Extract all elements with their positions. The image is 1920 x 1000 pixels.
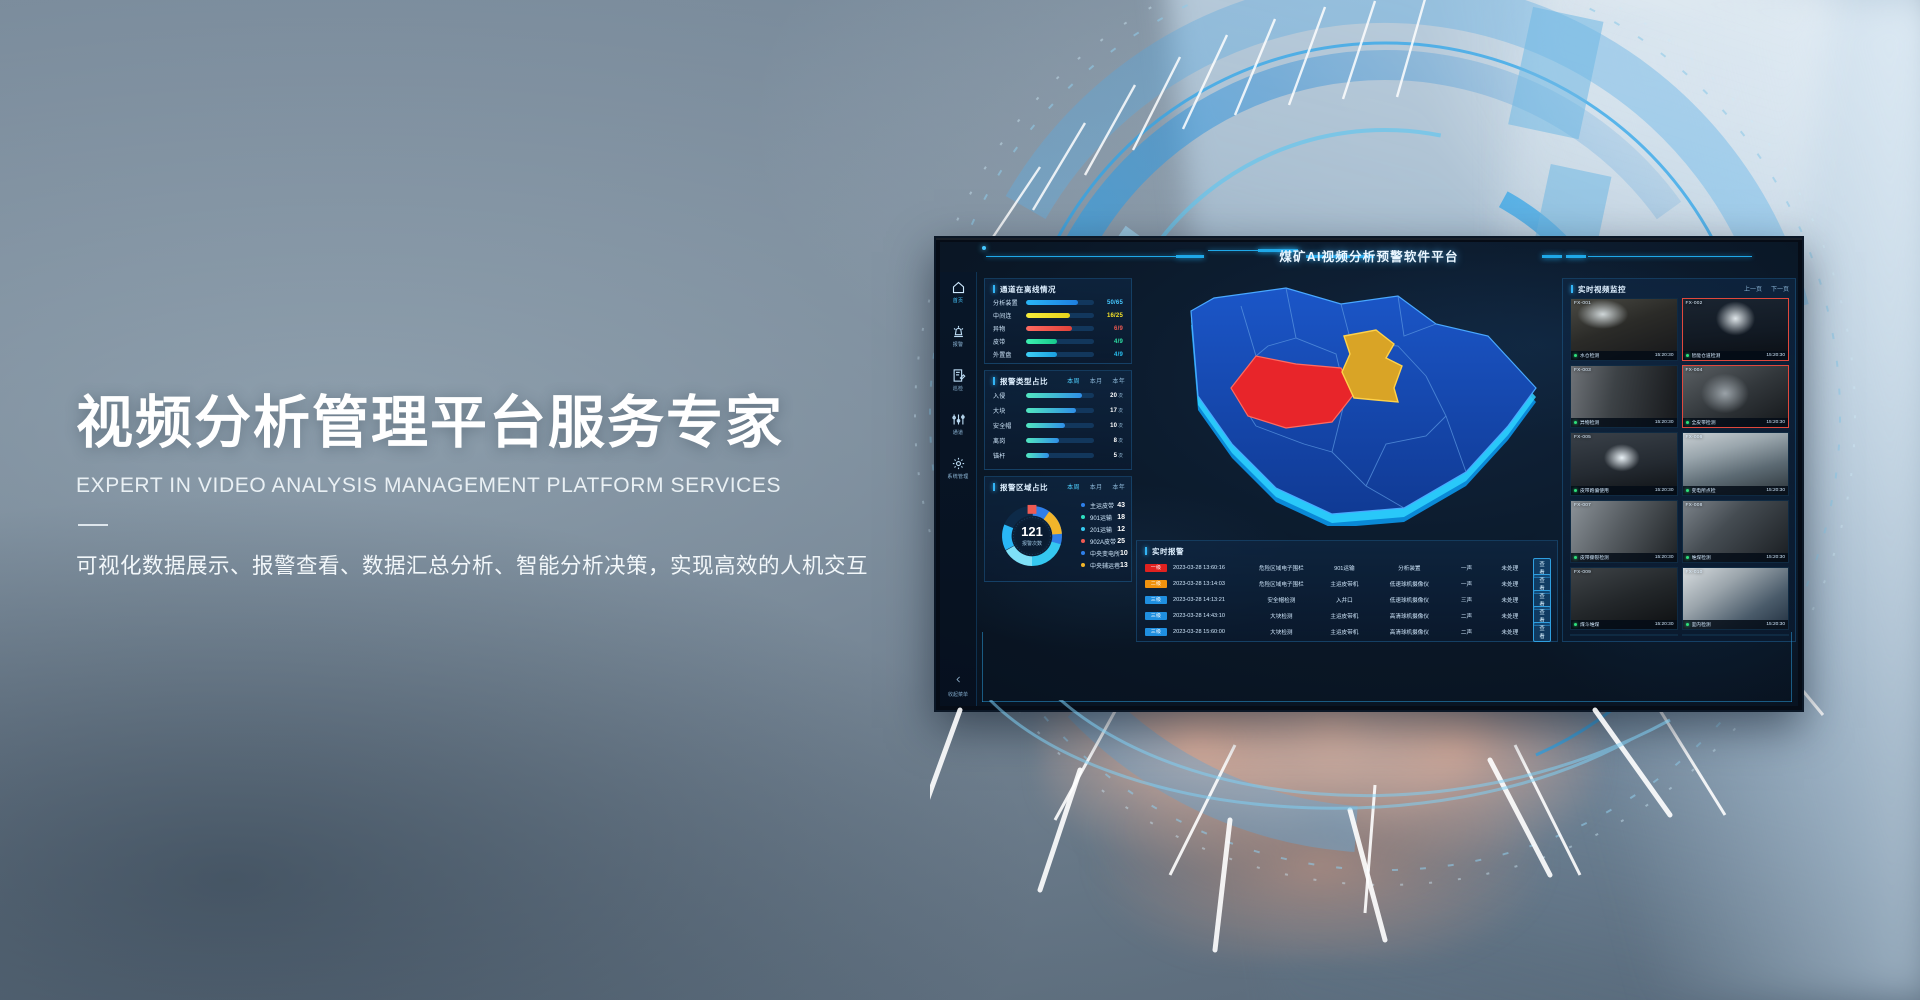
camera-time: 15:20:30 — [1655, 353, 1674, 358]
camera-time: 15:20:30 — [1766, 555, 1785, 560]
camera-footer: 变电所点检 15:20:30 — [1683, 486, 1789, 495]
alarm-icon — [940, 324, 976, 340]
gear-icon — [940, 456, 976, 472]
channel-row-track — [1026, 326, 1094, 331]
channel-row-value: 50/65 — [1099, 300, 1123, 306]
cell-time: 2023-03-28 14:43:10 — [1167, 613, 1246, 619]
video-cell[interactable]: FX-001 水仓检测 15:20:30 — [1570, 298, 1678, 361]
divider-rule — [78, 524, 108, 526]
video-cell[interactable]: FX-011 人员违规 15:20:30 — [1570, 634, 1678, 636]
tab-year[interactable]: 本年 — [1112, 376, 1125, 385]
page-description: 可视化数据展示、报警查看、数据汇总分析、智能分析决策，实现高效的人机交互 — [76, 550, 936, 582]
table-row[interactable]: 三级 2023-03-28 14:43:10 大块检测 主运皮带机 高清球机摄像… — [1145, 607, 1551, 624]
cell-location: 主运皮带机 — [1317, 628, 1372, 636]
legend-label: 中央辅运巷 — [1090, 561, 1120, 570]
cell-location: 主运皮带机 — [1317, 580, 1372, 588]
legend-dot — [1081, 539, 1085, 543]
donut-legend: 主运皮带 43 901运输 18 201运输 12 — [1081, 499, 1125, 571]
cell-status: 未处理 — [1486, 628, 1533, 636]
hero-copy: 视频分析管理平台服务专家 EXPERT IN VIDEO ANALYSIS MA… — [76, 392, 936, 582]
page-title: 视频分析管理平台服务专家 — [76, 392, 936, 456]
legend-item: 902A皮带 25 — [1081, 535, 1125, 547]
cell-device: 高清球机摄像仪 — [1372, 628, 1447, 636]
camera-footer: 智能仓道检测 15:20:30 — [1683, 351, 1789, 360]
channel-row-track — [1026, 339, 1094, 344]
tab-week[interactable]: 本周 — [1067, 376, 1080, 385]
cell-status: 未处理 — [1486, 612, 1533, 620]
legend-item: 中央变电所 10 — [1081, 547, 1125, 559]
realtime-alarm-title: 实时报警 — [1145, 546, 1184, 557]
camera-name: 水仓检测 — [1580, 352, 1655, 359]
alarm-type-label: 锚杆 — [993, 451, 1021, 460]
channel-row-track — [1026, 352, 1094, 357]
realtime-alarm-panel: 实时报警 一级 2023-03-28 13:60:16 危险区域电子围栏 901… — [1136, 540, 1558, 642]
online-dot — [1686, 489, 1689, 492]
camera-name: 室内检测 — [1692, 621, 1767, 628]
online-dot — [1686, 623, 1689, 626]
alarm-area-range-tabs: 本周 本月 本年 — [1067, 482, 1125, 491]
channel-row: 皮带 4/9 — [993, 337, 1123, 346]
view-button[interactable]: 查看 — [1533, 622, 1551, 642]
sidebar-item-inspection[interactable]: 巡检 — [940, 368, 976, 392]
dashboard-title: 煤矿AI视频分析预警软件平台 — [940, 246, 1798, 265]
video-panel-title: 实时视频监控 — [1571, 284, 1626, 295]
online-dot — [1686, 421, 1689, 424]
alarm-type-panel-title: 报警类型占比 — [993, 376, 1048, 387]
sidebar-label-home: 首页 — [940, 297, 976, 304]
sidebar-label-inspection: 巡检 — [940, 385, 976, 392]
legend-label: 主运皮带 — [1090, 501, 1114, 510]
home-icon — [940, 280, 976, 296]
legend-item: 中央辅运巷 13 — [1081, 559, 1125, 571]
camera-footer: 皮带跑偏使用 15:20:30 — [1571, 486, 1677, 495]
camera-id: FX-002 — [1686, 301, 1703, 306]
camera-id: FX-003 — [1574, 368, 1591, 373]
alarm-area-donut-chart: 121 报警次数 — [995, 499, 1069, 573]
cell-type: 大块检测 — [1246, 628, 1317, 636]
video-cell[interactable]: FX-002 智能仓道检测 15:20:30 — [1682, 298, 1790, 361]
cell-device: 低速球机摄像仪 — [1372, 580, 1447, 588]
alarm-type-row: 安全帽 10次 — [993, 421, 1123, 430]
video-cell[interactable]: FX-006 变电所点检 15:20:30 — [1682, 432, 1790, 495]
camera-id: FX-009 — [1574, 570, 1591, 575]
camera-id: FX-007 — [1574, 503, 1591, 508]
donut-total-caption: 报警次数 — [1022, 540, 1042, 547]
channel-row-value: 4/9 — [1099, 339, 1123, 345]
sidebar-collapse-label: 收起菜单 — [940, 691, 976, 698]
cell-location: 901运输 — [1317, 564, 1372, 572]
cell-status: 未处理 — [1486, 564, 1533, 572]
collapse-icon — [954, 671, 963, 688]
camera-footer: 煤斗堆煤 15:20:30 — [1571, 620, 1677, 629]
status-badge: 三级 — [1145, 612, 1167, 620]
camera-id: FX-005 — [1574, 435, 1591, 440]
alarm-area-panel-title: 报警区域占比 — [993, 482, 1048, 493]
cell-location: 主运皮带机 — [1317, 612, 1372, 620]
legend-label: 201运输 — [1090, 525, 1112, 534]
sidebar-item-home[interactable]: 首页 — [940, 280, 976, 304]
channel-panel-title: 通道在离线情况 — [993, 284, 1056, 295]
alarm-type-track — [1026, 453, 1094, 458]
camera-name: 异物检测 — [1580, 419, 1655, 426]
online-dot — [1574, 623, 1577, 626]
legend-dot — [1081, 503, 1085, 507]
alarm-type-row: 锚杆 5次 — [993, 451, 1123, 460]
camera-id: FX-006 — [1686, 435, 1703, 440]
legend-value: 12 — [1112, 526, 1125, 533]
cell-level: 二声 — [1447, 628, 1486, 636]
camera-time: 15:20:30 — [1766, 420, 1785, 425]
legend-value: 25 — [1116, 538, 1125, 545]
legend-value: 18 — [1112, 514, 1125, 521]
hero-banner: 视频分析管理平台服务专家 EXPERT IN VIDEO ANALYSIS MA… — [0, 0, 1920, 1000]
dashboard-screen: 煤矿AI视频分析预警软件平台 首页 报警 — [940, 242, 1798, 706]
online-dot — [1686, 354, 1689, 357]
camera-id: FX-004 — [1686, 368, 1703, 373]
camera-id: FX-001 — [1574, 301, 1591, 306]
online-dot — [1574, 354, 1577, 357]
legend-dot — [1081, 563, 1085, 567]
channel-row-value: 16/25 — [1099, 313, 1123, 319]
legend-value: 10 — [1120, 550, 1128, 557]
alarm-type-label: 离岗 — [993, 436, 1021, 445]
legend-item: 901运输 18 — [1081, 511, 1125, 523]
alarm-type-track — [1026, 423, 1094, 428]
camera-id: FX-010 — [1686, 570, 1703, 575]
online-dot — [1574, 556, 1577, 559]
channel-row: 中间连 16/25 — [993, 311, 1123, 320]
camera-footer: 全皮带检测 15:20:30 — [1683, 418, 1789, 427]
alarm-type-row: 入侵 20次 — [993, 391, 1123, 400]
camera-time: 15:20:30 — [1655, 488, 1674, 493]
channel-icon — [940, 412, 976, 428]
video-cell[interactable]: FX-008 堆煤检测 15:20:30 — [1682, 500, 1790, 563]
camera-name: 智能仓道检测 — [1692, 352, 1767, 359]
cell-level: 一声 — [1447, 564, 1486, 572]
alarm-type-row: 离岗 8次 — [993, 436, 1123, 445]
prev-page-button[interactable]: 上一页 — [1744, 284, 1762, 293]
channel-row-label: 中间连 — [993, 311, 1021, 320]
cell-type: 危险区域电子围栏 — [1246, 564, 1317, 572]
channel-row-label: 异物 — [993, 324, 1021, 333]
status-badge: 一级 — [1145, 564, 1167, 572]
video-cell[interactable]: FX-012 超速检测 15:20:30 — [1682, 634, 1790, 636]
tab-month[interactable]: 本月 — [1090, 482, 1103, 491]
camera-name: 堆煤检测 — [1692, 554, 1767, 561]
alarm-type-range-tabs: 本周 本月 本年 — [1067, 376, 1125, 385]
cell-type: 安全帽检测 — [1246, 596, 1317, 604]
alarm-area-panel: 报警区域占比 本周 本月 本年 — [984, 476, 1132, 582]
channel-row-label: 皮带 — [993, 337, 1021, 346]
cell-device: 高清球机摄像仪 — [1372, 612, 1447, 620]
alarm-type-row: 大块 17次 — [993, 406, 1123, 415]
video-cell[interactable]: FX-007 皮带撕裂检测 15:20:30 — [1570, 500, 1678, 563]
camera-id: FX-008 — [1686, 503, 1703, 508]
camera-name: 煤斗堆煤 — [1580, 621, 1655, 628]
donut-center-label: 121 报警次数 — [995, 499, 1069, 573]
online-dot — [1574, 489, 1577, 492]
legend-label: 中央变电所 — [1090, 549, 1120, 558]
legend-value: 43 — [1114, 502, 1125, 509]
cell-level: 一声 — [1447, 580, 1486, 588]
sidebar-nav: 首页 报警 巡检 通道 — [940, 272, 977, 706]
dashboard-monitor: 煤矿AI视频分析预警软件平台 首页 报警 — [934, 236, 1804, 712]
page-subtitle-en: EXPERT IN VIDEO ANALYSIS MANAGEMENT PLAT… — [76, 474, 936, 498]
alarm-type-value: 17次 — [1099, 408, 1123, 414]
cell-status: 未处理 — [1486, 580, 1533, 588]
camera-name: 皮带撕裂检测 — [1580, 554, 1655, 561]
camera-footer: 皮带撕裂检测 15:20:30 — [1571, 553, 1677, 562]
alarm-type-label: 安全帽 — [993, 421, 1021, 430]
channel-row-label: 外置盘 — [993, 350, 1021, 359]
legend-item: 主运皮带 43 — [1081, 499, 1125, 511]
channel-row-value: 4/9 — [1099, 352, 1123, 358]
cell-type: 危险区域电子围栏 — [1246, 580, 1317, 588]
alarm-type-panel: 报警类型占比 本周 本月 本年 入侵 20次 大块 17次 安全帽 — [984, 370, 1132, 470]
next-page-button[interactable]: 下一页 — [1771, 284, 1789, 293]
inspection-icon — [940, 368, 976, 384]
status-badge: 二级 — [1145, 580, 1167, 588]
cell-type: 大块检测 — [1246, 612, 1317, 620]
video-cell[interactable]: FX-005 皮带跑偏使用 15:20:30 — [1570, 432, 1678, 495]
table-row[interactable]: 三级 2023-03-28 15:60:00 大块检测 主运皮带机 高清球机摄像… — [1145, 623, 1551, 640]
cell-time: 2023-03-28 15:60:00 — [1167, 629, 1246, 635]
camera-footer: 水仓检测 15:20:30 — [1571, 351, 1677, 360]
video-cell[interactable]: FX-009 煤斗堆煤 15:20:30 — [1570, 567, 1678, 630]
camera-name: 皮带跑偏使用 — [1580, 487, 1655, 494]
alarm-type-value: 20次 — [1099, 393, 1123, 399]
online-dot — [1574, 421, 1577, 424]
cell-location: 入井口 — [1317, 596, 1372, 604]
alarm-type-value: 8次 — [1099, 438, 1123, 444]
legend-value: 13 — [1120, 562, 1128, 569]
table-row[interactable]: 三级 2023-03-28 14:13:21 安全帽检测 入井口 低速球机摄像仪… — [1145, 591, 1551, 608]
camera-time: 15:20:30 — [1655, 622, 1674, 627]
legend-label: 902A皮带 — [1090, 537, 1116, 546]
cell-time: 2023-03-28 13:60:16 — [1167, 565, 1246, 571]
region-map — [1136, 276, 1556, 526]
sidebar-label-channel: 通道 — [940, 429, 976, 436]
camera-time: 15:20:30 — [1655, 420, 1674, 425]
channel-row-track — [1026, 300, 1094, 305]
alarm-type-label: 入侵 — [993, 391, 1021, 400]
channel-row: 分析装置 50/65 — [993, 298, 1123, 307]
sidebar-label-system: 系统管理 — [940, 473, 976, 480]
cell-level: 二声 — [1447, 612, 1486, 620]
sidebar-collapse-button[interactable]: 收起菜单 — [940, 671, 976, 698]
status-badge: 三级 — [1145, 628, 1167, 636]
cell-device: 低速球机摄像仪 — [1372, 596, 1447, 604]
video-cell[interactable]: FX-004 全皮带检测 15:20:30 — [1682, 365, 1790, 428]
channel-status-panel: 通道在离线情况 分析装置 50/65 中间连 16/25 异物 6/9 — [984, 278, 1132, 364]
cell-level: 三声 — [1447, 596, 1486, 604]
alarm-type-value: 10次 — [1099, 423, 1123, 429]
video-grid: FX-001 水仓检测 15:20:30 FX-002 智能仓道检测 — [1570, 298, 1789, 636]
sidebar-item-system[interactable]: 系统管理 — [940, 456, 976, 480]
status-badge: 三级 — [1145, 596, 1167, 604]
alarm-type-label: 大块 — [993, 406, 1021, 415]
legend-dot — [1081, 515, 1085, 519]
tab-year[interactable]: 本年 — [1112, 482, 1125, 491]
video-cell[interactable]: FX-003 异物检测 15:20:30 — [1570, 365, 1678, 428]
online-dot — [1686, 556, 1689, 559]
sidebar-label-alarm: 报警 — [940, 341, 976, 348]
donut-total-value: 121 — [1021, 525, 1043, 538]
legend-item: 201运输 12 — [1081, 523, 1125, 535]
alarm-type-track — [1026, 408, 1094, 413]
channel-row-value: 6/9 — [1099, 326, 1123, 332]
sidebar-item-alarm[interactable]: 报警 — [940, 324, 976, 348]
channel-row-track — [1026, 313, 1094, 318]
cell-time: 2023-03-28 14:13:21 — [1167, 597, 1246, 603]
camera-time: 15:20:30 — [1766, 488, 1785, 493]
cell-device: 分析装置 — [1372, 564, 1447, 572]
camera-footer: 堆煤检测 15:20:30 — [1683, 553, 1789, 562]
camera-footer: 超速检测 15:20:30 — [1683, 634, 1789, 635]
tab-month[interactable]: 本月 — [1090, 376, 1103, 385]
sidebar-item-channel[interactable]: 通道 — [940, 412, 976, 436]
channel-row-label: 分析装置 — [993, 298, 1021, 307]
cell-time: 2023-03-28 13:14:03 — [1167, 581, 1246, 587]
table-row[interactable]: 一级 2023-03-28 13:60:16 危险区域电子围栏 901运输 分析… — [1145, 559, 1551, 576]
legend-dot — [1081, 551, 1085, 555]
legend-label: 901运输 — [1090, 513, 1112, 522]
cell-status: 未处理 — [1486, 596, 1533, 604]
dashboard-header: 煤矿AI视频分析预警软件平台 — [940, 242, 1798, 272]
alarm-type-track — [1026, 438, 1094, 443]
channel-row: 外置盘 4/9 — [993, 350, 1123, 359]
video-pagination: 上一页 下一页 — [1744, 284, 1789, 293]
legend-dot — [1081, 527, 1085, 531]
tab-week[interactable]: 本周 — [1067, 482, 1080, 491]
alarm-type-value: 5次 — [1099, 453, 1123, 459]
alarm-type-track — [1026, 393, 1094, 398]
table-row[interactable]: 二级 2023-03-28 13:14:03 危险区域电子围栏 主运皮带机 低速… — [1145, 575, 1551, 592]
camera-name: 变电所点检 — [1692, 487, 1767, 494]
channel-row: 异物 6/9 — [993, 324, 1123, 333]
video-cell[interactable]: FX-010 室内检测 15:20:30 — [1682, 567, 1790, 630]
camera-time: 15:20:30 — [1655, 555, 1674, 560]
camera-footer: 异物检测 15:20:30 — [1571, 418, 1677, 427]
video-monitor-panel: 实时视频监控 上一页 下一页 FX-001 水仓检测 15:20:30 — [1562, 278, 1796, 642]
camera-footer: 人员违规 15:20:30 — [1571, 634, 1677, 635]
camera-time: 15:20:30 — [1766, 622, 1785, 627]
camera-footer: 室内检测 15:20:30 — [1683, 620, 1789, 629]
camera-name: 全皮带检测 — [1692, 419, 1767, 426]
camera-time: 15:20:30 — [1766, 353, 1785, 358]
